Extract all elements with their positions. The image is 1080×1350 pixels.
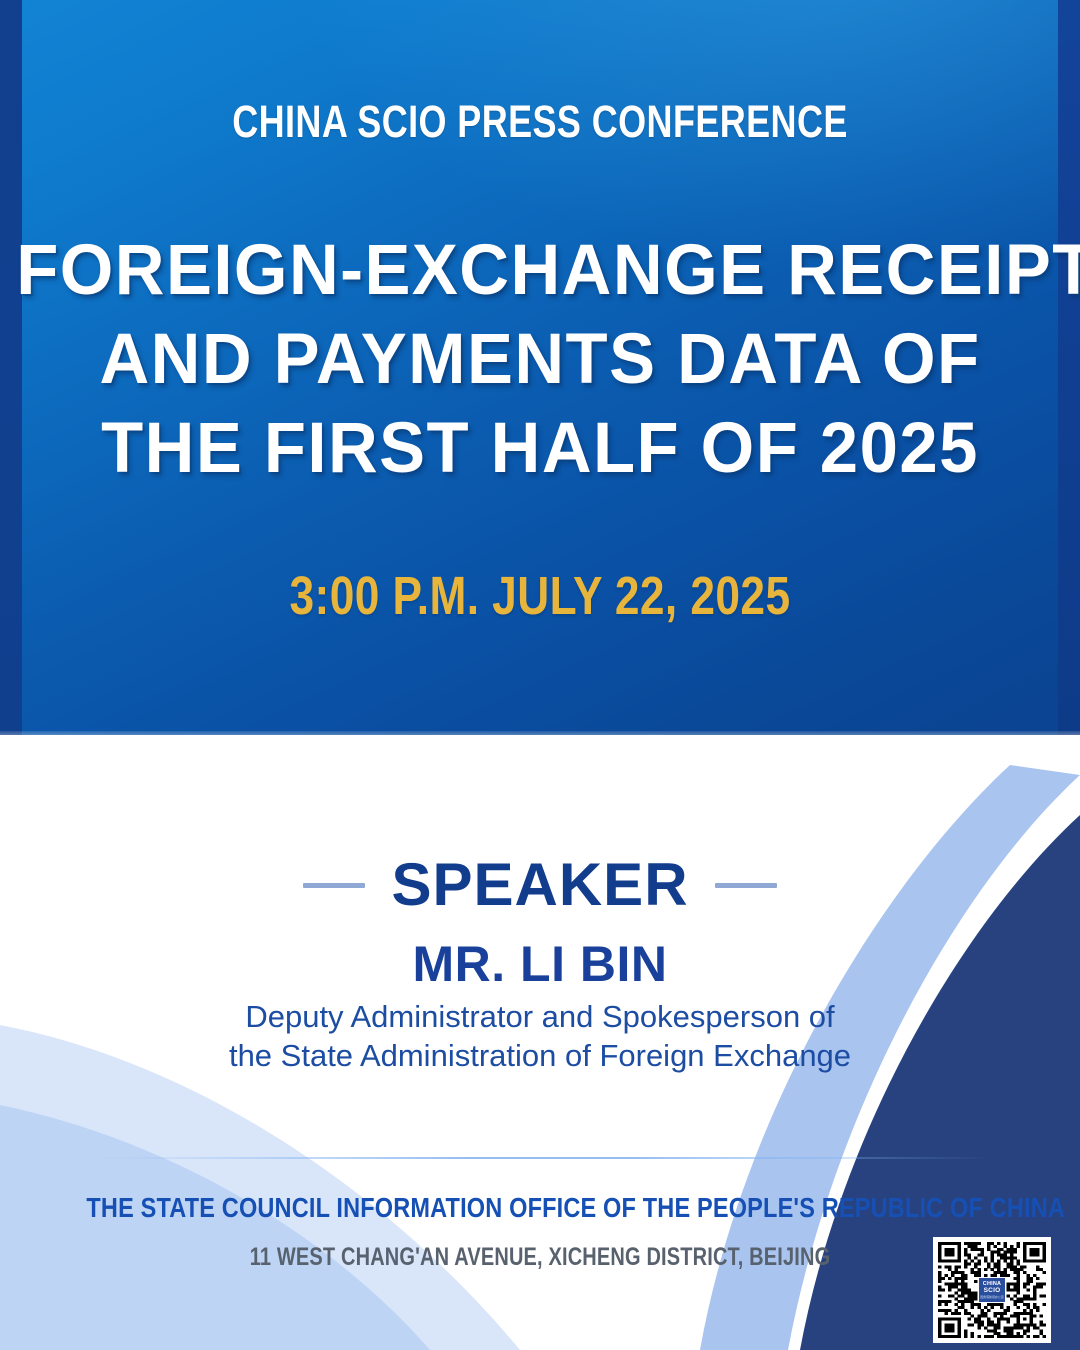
body-section: SPEAKER MR. LI BIN Deputy Administrator … [0,735,1080,1350]
speaker-section-header: SPEAKER [0,855,1080,915]
hero-banner: CHINA SCIO PRESS CONFERENCE FOREIGN-EXCH… [0,0,1080,735]
speaker-role-line-1: Deputy Administrator and Spokesperson of [0,997,1080,1036]
footer-address: 11 WEST CHANG'AN AVENUE, XICHENG DISTRIC… [108,1243,972,1272]
qr-badge-line-3: 国务院新闻办公室 [980,1296,1003,1299]
speaker-name: MR. LI BIN [0,935,1080,993]
speaker-section-label: SPEAKER [391,855,688,915]
press-conference-kicker: CHINA SCIO PRESS CONFERENCE [108,96,972,148]
qr-code[interactable]: CHINA SCIO 国务院新闻办公室 [933,1237,1051,1343]
conference-title: FOREIGN-EXCHANGE RECEIPTS AND PAYMENTS D… [0,226,1080,493]
qr-badge-line-2: SCIO [984,1288,1001,1295]
speaker-role: Deputy Administrator and Spokesperson of… [0,997,1080,1075]
qr-code-logo-badge: CHINA SCIO 国务院新闻办公室 [978,1277,1006,1303]
footer-organization: THE STATE COUNCIL INFORMATION OFFICE OF … [86,1192,993,1224]
speaker-dash-left-icon [303,883,365,888]
title-line-3: THE FIRST HALF OF 2025 [16,404,1064,493]
speaker-dash-right-icon [715,883,777,888]
footer-divider [90,1157,990,1159]
speaker-role-line-2: the State Administration of Foreign Exch… [0,1036,1080,1075]
poster-root: CHINA SCIO PRESS CONFERENCE FOREIGN-EXCH… [0,0,1080,1350]
title-line-1: FOREIGN-EXCHANGE RECEIPTS [16,226,1064,315]
decor-curve-left-inner [0,1105,430,1350]
title-line-2: AND PAYMENTS DATA OF [16,315,1064,404]
event-datetime: 3:00 P.M. JULY 22, 2025 [97,565,983,627]
